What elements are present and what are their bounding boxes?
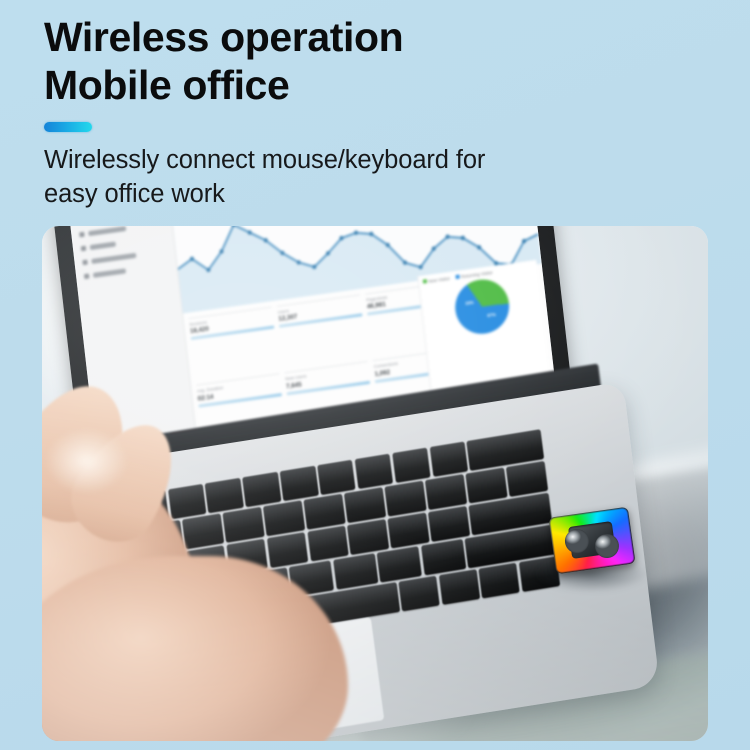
legend-label: Returning Visitor: [461, 269, 493, 278]
pie-slice-label-returning: 67%: [487, 311, 496, 317]
sidebar-item-label: [91, 252, 136, 263]
pie-slice-label-new: 33%: [465, 299, 474, 305]
legend-entry-returning-visitor: Returning Visitor: [456, 269, 493, 279]
hand-lower: [42, 556, 348, 741]
key[interactable]: [387, 512, 429, 547]
key[interactable]: [391, 447, 430, 482]
bullet-icon: [82, 259, 88, 265]
key[interactable]: [343, 487, 385, 522]
key-arrow-left[interactable]: [438, 569, 479, 604]
device-body: [548, 507, 635, 574]
key[interactable]: [303, 493, 345, 528]
page-title: Wireless operation Mobile office: [44, 14, 704, 109]
key-arrow-updown[interactable]: [478, 563, 519, 598]
accent-divider: [44, 122, 92, 132]
palm-heel: [42, 556, 348, 741]
key[interactable]: [465, 467, 507, 502]
bullet-icon: [79, 231, 85, 237]
sidebar-item-label: [88, 226, 127, 236]
key[interactable]: [429, 441, 468, 476]
key[interactable]: [505, 461, 547, 496]
page-subtitle: Wirelessly connect mouse/keyboard for ea…: [44, 143, 704, 211]
sidebar-item-label: [90, 241, 116, 250]
sidebar-item-label: [93, 268, 126, 278]
legend-entry-new-visitor: New Visitor: [423, 275, 450, 284]
key[interactable]: [279, 465, 318, 500]
key[interactable]: [316, 459, 355, 494]
legend-swatch-icon: [456, 274, 460, 278]
rgb-wireless-dongle: [548, 507, 635, 574]
metric-card: Users 12,307: [277, 293, 368, 367]
key[interactable]: [347, 519, 389, 554]
key[interactable]: [354, 453, 393, 488]
sidebar-item[interactable]: [84, 262, 171, 279]
sidebar-item[interactable]: [82, 248, 169, 265]
legend-label: New Visitor: [428, 275, 450, 283]
sidebar-item[interactable]: [79, 226, 166, 237]
key[interactable]: [376, 546, 421, 582]
pie-chart: 33% 67%: [452, 275, 512, 336]
key[interactable]: [420, 539, 465, 575]
bullet-icon: [81, 245, 87, 251]
product-photo: Hour Day Week Month Sessions 18,420: [42, 226, 708, 741]
bullet-icon: [84, 273, 90, 279]
sidebar-item[interactable]: [81, 234, 168, 251]
knuckle-highlight: [45, 428, 128, 494]
key[interactable]: [424, 474, 466, 509]
hero-text-block: Wireless operation Mobile office Wireles…: [44, 14, 704, 211]
key[interactable]: [384, 480, 426, 515]
key[interactable]: [262, 500, 304, 535]
key[interactable]: [427, 506, 469, 541]
key-command-right[interactable]: [398, 576, 439, 611]
legend-swatch-icon: [423, 279, 427, 283]
